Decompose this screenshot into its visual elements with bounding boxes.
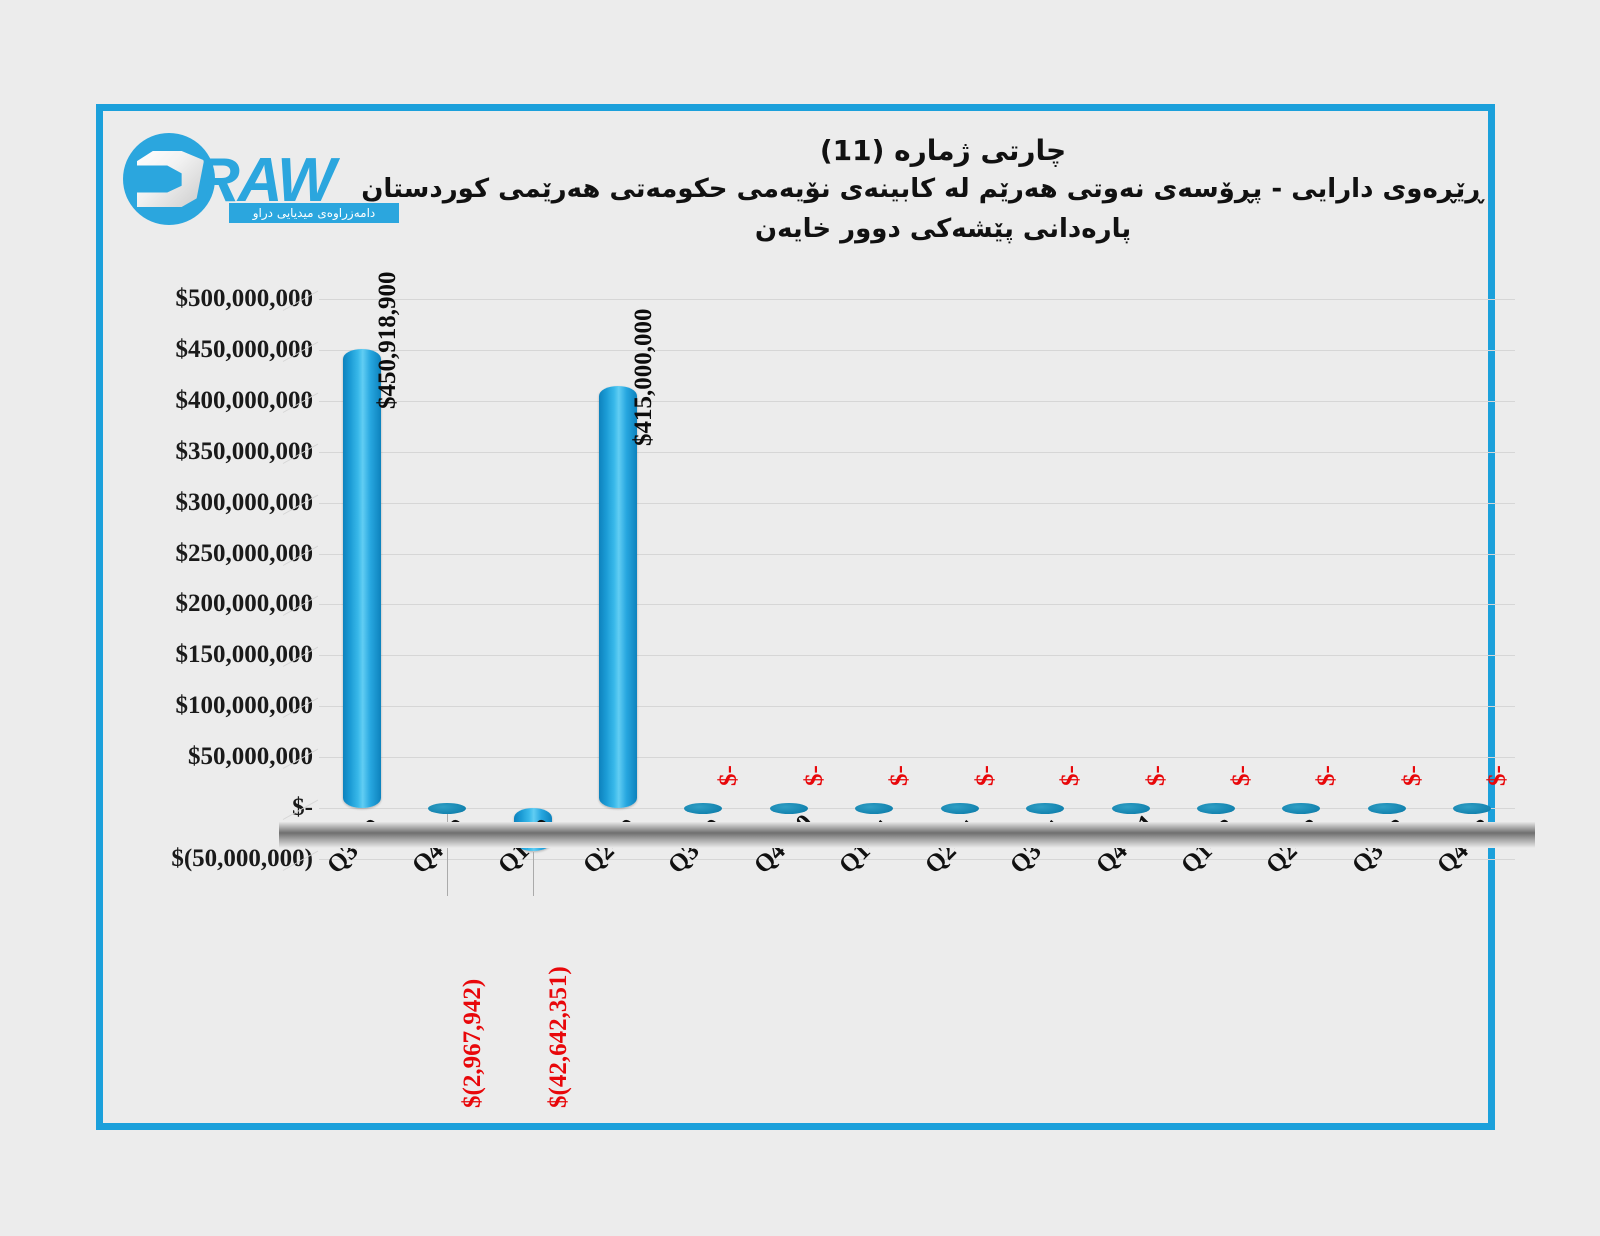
bar-zero (1197, 803, 1235, 814)
bar-zero (1282, 803, 1320, 814)
y-axis-tick-label: $(50,000,000) (103, 845, 313, 873)
y-axis-tick-label: $350,000,000 (103, 438, 313, 466)
y-axis-tick-label: $300,000,000 (103, 489, 313, 517)
bar-value-label: $- (1313, 765, 1341, 786)
bar-value-label: $(42,642,351) (545, 966, 573, 1108)
bar-value-label: $- (715, 765, 743, 786)
y-axis-tick-label: $400,000,000 (103, 387, 313, 415)
gridline (319, 706, 1515, 707)
bar-zero (684, 803, 722, 814)
y-axis-tick-label: $250,000,000 (103, 540, 313, 568)
bar-value-label: $- (972, 765, 1000, 786)
gridline (319, 808, 1515, 809)
bar-value-label: $(2,967,942) (459, 979, 487, 1108)
gridline (319, 452, 1515, 453)
bar-negative (428, 803, 466, 814)
bar-zero (941, 803, 979, 814)
y-axis-tick-label: $- (103, 794, 313, 822)
bar-value-label: $450,918,900 (374, 271, 402, 409)
screenshot-root: RAW دامەزراوەی میدیایی دراو چارتی ژماره … (0, 0, 1600, 1236)
bar-value-label: $- (1484, 765, 1512, 786)
chart-subtitle-line1: ڕێڕەوی دارایی - پڕۆسەی نەوتی هەرێم لە کا… (403, 169, 1483, 209)
axis-floor-band (279, 822, 1535, 848)
chart-subtitle-line2: پارەدانی پێشەکی دوور خایەن (403, 209, 1483, 249)
gridline (319, 350, 1515, 351)
bar-zero (1368, 803, 1406, 814)
bar-value-label: $- (801, 765, 829, 786)
bar (599, 386, 637, 809)
bar-zero (1026, 803, 1064, 814)
chart-title: چارتی ژماره (11) (403, 133, 1483, 169)
bar-value-label: $- (1228, 765, 1256, 786)
y-axis-tick-label: $50,000,000 (103, 743, 313, 771)
chart-title-block: چارتی ژماره (11) ڕێڕەوی دارایی - پڕۆسەی … (403, 133, 1483, 249)
gridline (319, 604, 1515, 605)
bar (343, 349, 381, 808)
y-axis-tick-label: $500,000,000 (103, 285, 313, 313)
bar-zero (855, 803, 893, 814)
gridline (319, 757, 1515, 758)
gridline (319, 655, 1515, 656)
bar-value-label: $415,000,000 (630, 308, 658, 446)
bar-value-label: $- (886, 765, 914, 786)
y-axis-tick-label: $100,000,000 (103, 692, 313, 720)
bar-value-label: $- (1057, 765, 1085, 786)
gridline (319, 401, 1515, 402)
plot-area: $450,918,900Q3-19$(2,967,942)Q4-19$(42,6… (319, 299, 1515, 859)
y-axis-tick-label: $450,000,000 (103, 336, 313, 364)
bar-value-label: $- (1143, 765, 1171, 786)
gridline (319, 299, 1515, 300)
gridline (319, 554, 1515, 555)
chart-frame: RAW دامەزراوەی میدیایی دراو چارتی ژماره … (96, 104, 1495, 1130)
bar-zero (1453, 803, 1491, 814)
bar-value-label: $- (1399, 765, 1427, 786)
gridline (319, 503, 1515, 504)
y-axis-tick-label: $150,000,000 (103, 641, 313, 669)
